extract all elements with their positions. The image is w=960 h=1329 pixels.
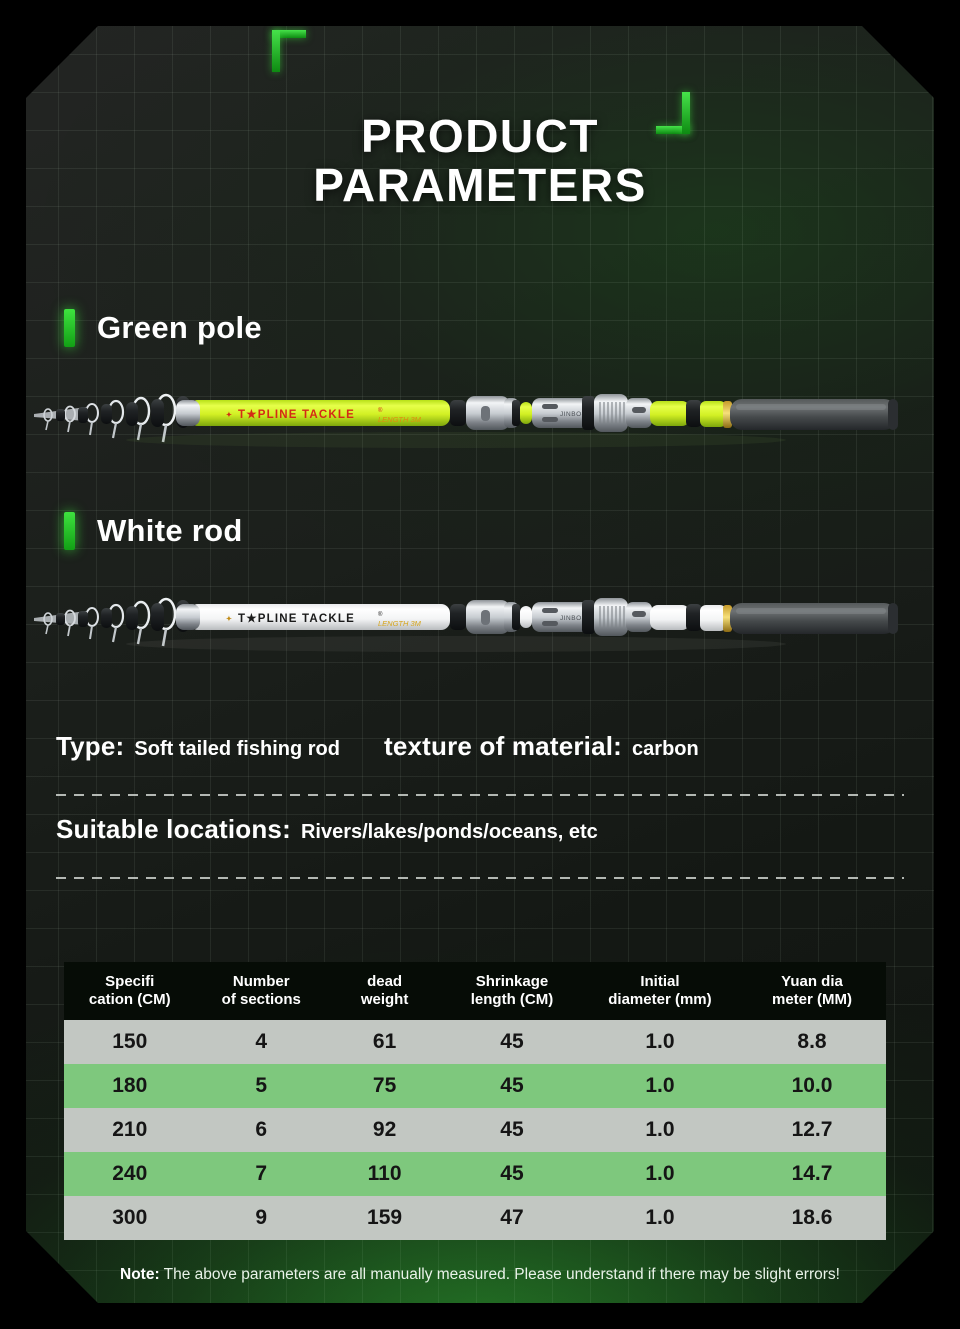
table-header-cell: Specifi cation (CM) xyxy=(64,962,196,1020)
page-title: PRODUCT PARAMETERS xyxy=(26,112,934,210)
note-text: Note: The above parameters are all manua… xyxy=(26,1264,934,1287)
table-cell: 7 xyxy=(196,1152,328,1196)
product-image-white-rod: ✦ T★PLINE TACKLE ® LENGTH 3M JINBO-S8 xyxy=(26,578,934,664)
table-cell: 210 xyxy=(64,1108,196,1152)
header-line-2: weight xyxy=(329,991,440,1009)
table-cell: 110 xyxy=(327,1152,442,1196)
spec-row-locations: Suitable locations: Rivers/lakes/ponds/o… xyxy=(56,814,904,845)
table-cell: 1.0 xyxy=(582,1196,738,1240)
svg-text:T★PLINE TACKLE: T★PLINE TACKLE xyxy=(238,612,355,625)
table-header-cell: Initial diameter (mm) xyxy=(582,962,738,1020)
divider-dashed-2 xyxy=(56,877,904,879)
table-cell: 1.0 xyxy=(582,1064,738,1108)
section-title-green: Green pole xyxy=(97,310,262,346)
table-cell: 1.0 xyxy=(582,1020,738,1064)
title-line-2: PARAMETERS xyxy=(26,161,934,210)
spec-label-locations: Suitable locations: xyxy=(56,814,291,845)
svg-text:LENGTH 3M: LENGTH 3M xyxy=(378,619,422,628)
table-cell: 4 xyxy=(196,1020,328,1064)
product-panel: PRODUCT PARAMETERS Green pole xyxy=(26,26,934,1303)
header-line-2: of sections xyxy=(198,991,326,1009)
svg-text:®: ® xyxy=(378,611,383,618)
header-line-1: dead xyxy=(329,973,440,991)
accent-bar-icon xyxy=(64,512,75,550)
spec-row-type-material: Type: Soft tailed fishing rod texture of… xyxy=(56,731,904,762)
header-line-1: Yuan dia xyxy=(740,973,884,991)
table-row: 300 9 159 47 1.0 18.6 xyxy=(64,1196,886,1240)
table-row: 180 5 75 45 1.0 10.0 xyxy=(64,1064,886,1108)
table-cell: 6 xyxy=(196,1108,328,1152)
table-cell: 75 xyxy=(327,1064,442,1108)
table-cell: 12.7 xyxy=(738,1108,886,1152)
white-rod-illustration: ✦ T★PLINE TACKLE ® LENGTH 3M JINBO-S8 xyxy=(26,578,934,664)
svg-text:®: ® xyxy=(378,407,383,414)
divider-dashed-1 xyxy=(56,794,904,796)
header-line-1: Initial xyxy=(584,973,736,991)
table-cell: 92 xyxy=(327,1108,442,1152)
section-heading-green-pole: Green pole xyxy=(64,309,262,347)
table-row: 240 7 110 45 1.0 14.7 xyxy=(64,1152,886,1196)
svg-text:✦: ✦ xyxy=(226,411,232,419)
table-cell: 1.0 xyxy=(582,1108,738,1152)
header-line-1: Shrinkage xyxy=(444,973,580,991)
spec-label-material: texture of material: xyxy=(384,731,622,762)
table-cell: 180 xyxy=(64,1064,196,1108)
table-header-cell: Shrinkage length (CM) xyxy=(442,962,582,1020)
spec-label-type: Type: xyxy=(56,731,124,762)
table-header-cell: Yuan dia meter (MM) xyxy=(738,962,886,1020)
table-cell: 240 xyxy=(64,1152,196,1196)
table-cell: 1.0 xyxy=(582,1152,738,1196)
title-bracket-top-left xyxy=(272,30,306,72)
table-cell: 18.6 xyxy=(738,1196,886,1240)
header-line-2: meter (MM) xyxy=(740,991,884,1009)
header-line-2: length (CM) xyxy=(444,991,580,1009)
table-header-cell: Number of sections xyxy=(196,962,328,1020)
header-line-1: Specifi xyxy=(66,973,194,991)
product-image-green-rod: ✦ T★PLINE TACKLE ® LENGTH 3M xyxy=(26,374,934,460)
header-line-2: diameter (mm) xyxy=(584,991,736,1009)
table-cell: 300 xyxy=(64,1196,196,1240)
note-body: The above parameters are all manually me… xyxy=(160,1266,840,1283)
table-cell: 150 xyxy=(64,1020,196,1064)
spec-value-material: carbon xyxy=(632,738,699,761)
title-line-1: PRODUCT xyxy=(26,112,934,161)
infographic-stage: PRODUCT PARAMETERS Green pole xyxy=(0,0,960,1329)
parameters-table: Specifi cation (CM) Number of sections d… xyxy=(64,962,886,1240)
table-cell: 61 xyxy=(327,1020,442,1064)
table-cell: 14.7 xyxy=(738,1152,886,1196)
svg-text:T★PLINE TACKLE: T★PLINE TACKLE xyxy=(238,408,355,421)
spec-value-type: Soft tailed fishing rod xyxy=(134,738,340,761)
accent-bar-icon xyxy=(64,309,75,347)
table-row: 150 4 61 45 1.0 8.8 xyxy=(64,1020,886,1064)
table-header-row: Specifi cation (CM) Number of sections d… xyxy=(64,962,886,1020)
table-cell: 45 xyxy=(442,1020,582,1064)
section-heading-white-rod: White rod xyxy=(64,512,243,550)
table-cell: 8.8 xyxy=(738,1020,886,1064)
table-cell: 45 xyxy=(442,1108,582,1152)
svg-text:✦: ✦ xyxy=(226,615,232,623)
spec-value-locations: Rivers/lakes/ponds/oceans, etc xyxy=(301,821,598,844)
header-line-1: Number xyxy=(198,973,326,991)
green-rod-illustration: ✦ T★PLINE TACKLE ® LENGTH 3M xyxy=(26,374,934,460)
section-title-white: White rod xyxy=(97,513,243,549)
svg-text:LENGTH 3M: LENGTH 3M xyxy=(378,415,422,424)
header-line-2: cation (CM) xyxy=(66,991,194,1009)
table-cell: 159 xyxy=(327,1196,442,1240)
table-cell: 45 xyxy=(442,1152,582,1196)
table-header-cell: dead weight xyxy=(327,962,442,1020)
table-cell: 5 xyxy=(196,1064,328,1108)
table-cell: 10.0 xyxy=(738,1064,886,1108)
table-cell: 47 xyxy=(442,1196,582,1240)
table-cell: 9 xyxy=(196,1196,328,1240)
table-row: 210 6 92 45 1.0 12.7 xyxy=(64,1108,886,1152)
table-cell: 45 xyxy=(442,1064,582,1108)
note-label: Note: xyxy=(120,1266,160,1283)
